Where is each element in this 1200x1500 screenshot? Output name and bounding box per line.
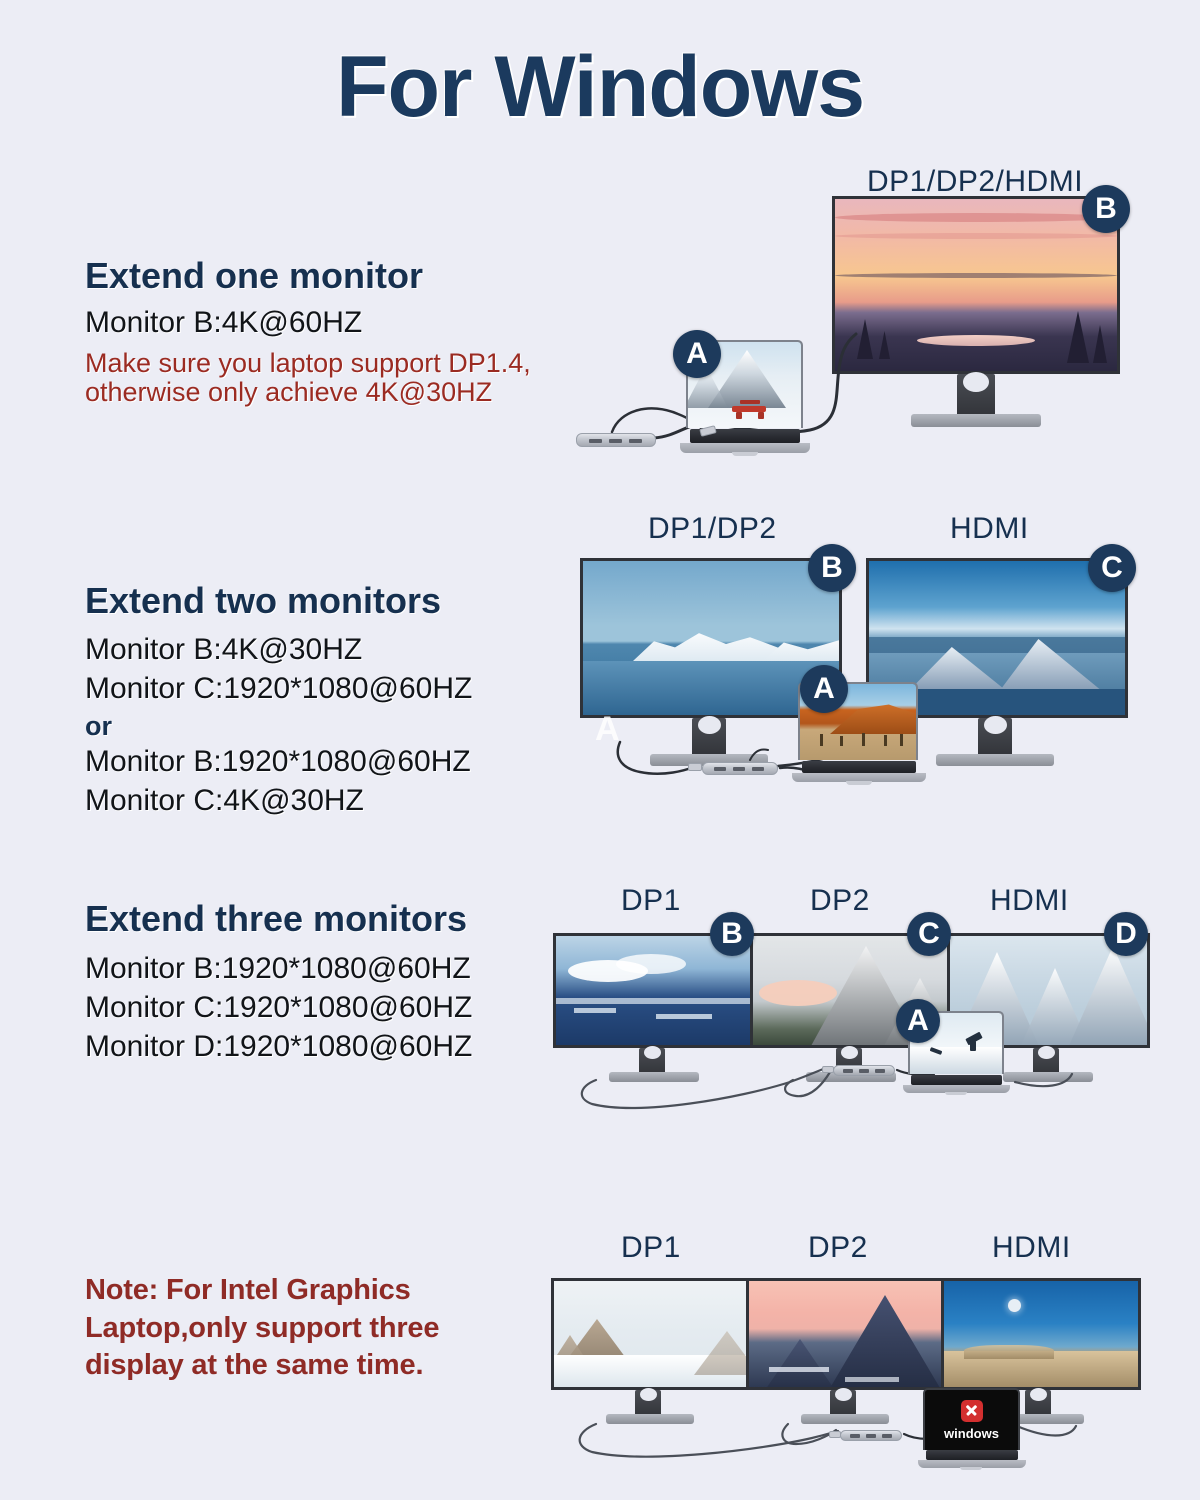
- badge-c-diagram2: C: [1088, 544, 1136, 592]
- badge-b-diagram1: B: [1082, 185, 1130, 233]
- badge-a-diagram2: A: [800, 665, 848, 713]
- laptop-a-d2-keyboard: [802, 761, 916, 773]
- windows-unsupported-screen: windows: [925, 1390, 1018, 1450]
- laptop-error-keyboard: [926, 1450, 1018, 1460]
- laptop-a-d3-notch: [945, 1092, 967, 1095]
- infographic-page: For Windows Extend one monitor Monitor B…: [0, 0, 1200, 1500]
- usb-c-tip-2: [688, 763, 702, 771]
- red-x-icon: [961, 1400, 983, 1422]
- dock-hub-2: [702, 762, 778, 775]
- dock-hub-1: [576, 433, 656, 447]
- cables-diagram-4: [0, 0, 1200, 1500]
- laptop-a-trackpad-notch: [732, 452, 758, 456]
- windows-label: windows: [944, 1426, 999, 1441]
- laptop-error-notch: [960, 1467, 982, 1470]
- laptop-a-d3-keyboard: [911, 1075, 1002, 1085]
- badge-b-diagram2: B: [808, 544, 856, 592]
- badge-b-diagram3: B: [710, 912, 754, 956]
- badge-d-diagram3: D: [1104, 912, 1148, 956]
- dock-hub-4: [840, 1430, 902, 1441]
- laptop-a-d2-notch: [846, 781, 872, 785]
- dock-hub-3: [833, 1065, 895, 1076]
- laptop-error-screen: windows: [923, 1388, 1020, 1450]
- laptop-error: windows: [918, 1388, 1026, 1472]
- badge-c-diagram3: C: [907, 912, 951, 956]
- badge-a-diagram3: A: [896, 999, 940, 1043]
- badge-a-diagram1: A: [673, 330, 721, 378]
